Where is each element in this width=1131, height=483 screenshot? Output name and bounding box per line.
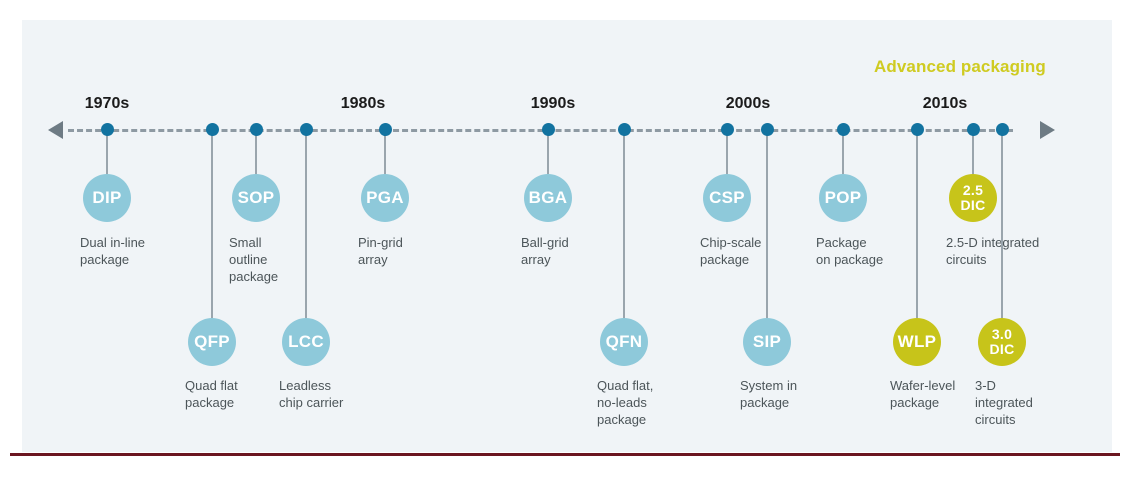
node-connector-DIP [106,130,108,174]
axis-arrow-left-icon [48,121,63,139]
node-connector-QFN [623,130,625,318]
bubble-abbr: LCC [288,333,324,351]
node-connector-PGA [384,130,386,174]
node-connector-LCC [305,130,307,318]
package-caption-LCC: Leadless chip carrier [279,377,343,411]
package-caption-DIP: Dual in-line package [80,234,145,268]
package-bubble-PGA[interactable]: PGA [361,174,409,222]
package-caption-BGA: Ball-grid array [521,234,569,268]
bubble-abbr: QFN [606,333,643,351]
decade-label-2010s: 2010s [923,95,968,113]
timeline-dot-CSP[interactable] [721,123,734,136]
package-bubble-BGA[interactable]: BGA [524,174,572,222]
package-caption-3.0: 3-D integrated circuits [975,377,1033,428]
node-connector-SOP [255,130,257,174]
decade-label-1970s: 1970s [85,95,130,113]
axis-arrow-right-icon [1040,121,1055,139]
package-caption-SOP: Small outline package [229,234,278,285]
package-bubble-POP[interactable]: POP [819,174,867,222]
package-caption-CSP: Chip-scale package [700,234,761,268]
bubble-abbr: PGA [366,189,404,207]
package-caption-PGA: Pin-grid array [358,234,403,268]
timeline-dot-QFN[interactable] [618,123,631,136]
timeline-dot-SOP[interactable] [250,123,263,136]
node-connector-WLP [916,130,918,318]
bubble-abbr: DIP [92,189,121,207]
timeline-dot-BGA[interactable] [542,123,555,136]
timeline-dot-PGA[interactable] [379,123,392,136]
bubble-abbr: 2.5 [963,183,983,198]
decade-label-1990s: 1990s [531,95,576,113]
bubble-abbr: SIP [753,333,781,351]
bubble-abbr: SOP [238,189,275,207]
node-connector-QFP [211,130,213,318]
bubble-abbr: WLP [898,333,937,351]
package-caption-QFN: Quad flat, no-leads package [597,377,653,428]
node-connector-BGA [547,130,549,174]
package-caption-SIP: System in package [740,377,797,411]
node-connector-2.5 [972,130,974,174]
package-caption-WLP: Wafer-level package [890,377,955,411]
bubble-abbr-second-line: DIC [989,342,1014,357]
package-bubble-SOP[interactable]: SOP [232,174,280,222]
bubble-abbr: CSP [709,189,745,207]
package-caption-POP: Package on package [816,234,883,268]
bubble-abbr: 3.0 [992,327,1012,342]
node-connector-CSP [726,130,728,174]
timeline-dot-POP[interactable] [837,123,850,136]
package-bubble-WLP[interactable]: WLP [893,318,941,366]
package-bubble-QFN[interactable]: QFN [600,318,648,366]
package-bubble-3.0[interactable]: 3.0DIC [978,318,1026,366]
node-connector-SIP [766,130,768,318]
bubble-abbr: POP [825,189,862,207]
package-bubble-CSP[interactable]: CSP [703,174,751,222]
bubble-abbr-second-line: DIC [960,198,985,213]
bubble-abbr: BGA [529,189,568,207]
timeline-dot-DIP[interactable] [101,123,114,136]
decade-label-1980s: 1980s [341,95,386,113]
node-connector-POP [842,130,844,174]
decade-label-2000s: 2000s [726,95,771,113]
timeline-dot-WLP[interactable] [911,123,924,136]
package-bubble-LCC[interactable]: LCC [282,318,330,366]
package-bubble-2.5[interactable]: 2.5DIC [949,174,997,222]
timeline-dot-LCC[interactable] [300,123,313,136]
advanced-packaging-label: Advanced packaging [874,57,1046,77]
bottom-divider [10,453,1120,456]
node-connector-3.0 [1001,130,1003,318]
timeline-dot-3.0[interactable] [996,123,1009,136]
package-bubble-QFP[interactable]: QFP [188,318,236,366]
timeline-dot-QFP[interactable] [206,123,219,136]
timeline-dot-SIP[interactable] [761,123,774,136]
package-bubble-DIP[interactable]: DIP [83,174,131,222]
timeline-infographic: Advanced packaging 1970s1980s1990s2000s2… [0,0,1131,483]
timeline-dot-2.5[interactable] [967,123,980,136]
bubble-abbr: QFP [194,333,230,351]
package-caption-QFP: Quad flat package [185,377,238,411]
package-caption-2.5: 2.5-D integrated circuits [946,234,1039,268]
package-bubble-SIP[interactable]: SIP [743,318,791,366]
